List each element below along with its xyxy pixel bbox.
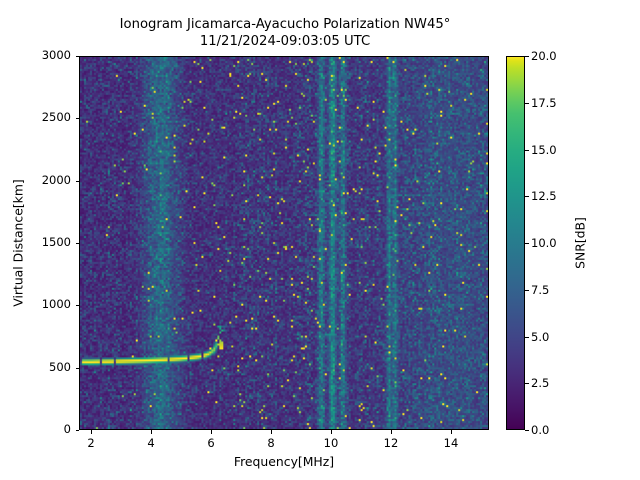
y-axis-label: Virtual Distance[km]: [11, 179, 26, 307]
xtick-mark: [271, 430, 272, 434]
ytick-mark: [76, 430, 80, 431]
ytick-label-text: 0: [64, 422, 71, 436]
colorbar-tick-label: 20.0: [531, 49, 557, 63]
colorbar-tick-mark: [525, 243, 529, 244]
xtick-mark: [331, 430, 332, 434]
ytick-mark: [76, 305, 80, 306]
xtick-label: 4: [147, 436, 154, 450]
xtick-label: 6: [207, 436, 214, 450]
colorbar-tick-mark: [525, 430, 529, 431]
ytick-mark: [76, 118, 80, 119]
page-title: Ionogram Jicamarca-Ayacucho Polarization…: [0, 17, 570, 50]
ytick-mark: [76, 181, 80, 182]
colorbar-tick-mark: [525, 383, 529, 384]
title-line-2: 11/21/2024-09:03:05 UTC: [0, 34, 570, 51]
colorbar-tick-mark: [525, 56, 529, 57]
xtick-mark: [451, 430, 452, 434]
xtick-mark: [91, 430, 92, 434]
xtick-label: 2: [87, 436, 94, 450]
colorbar-tick-mark: [525, 290, 529, 291]
colorbar-tick-label: 17.5: [531, 96, 557, 110]
colorbar-tick-label: 2.5: [531, 376, 549, 390]
colorbar-label: SNR[dB]: [573, 217, 588, 269]
colorbar-tick-mark: [525, 337, 529, 338]
ionogram-heatmap: [80, 57, 488, 429]
ytick-mark: [76, 368, 80, 369]
ytick-label-text: 2000: [42, 173, 71, 187]
ytick-label-text: 3000: [42, 48, 71, 62]
ytick-label-text: 1000: [42, 297, 71, 311]
colorbar-tick-mark: [525, 103, 529, 104]
colorbar-tick-mark: [525, 150, 529, 151]
ionogram-figure: Ionogram Jicamarca-Ayacucho Polarization…: [0, 0, 640, 480]
ytick-mark: [76, 243, 80, 244]
xtick-mark: [211, 430, 212, 434]
colorbar-gradient: [506, 56, 525, 430]
colorbar-tick-label: 5.0: [531, 330, 549, 344]
colorbar-tick-label: 15.0: [531, 143, 557, 157]
ytick-label-text: 500: [49, 360, 71, 374]
ytick-mark: [76, 56, 80, 57]
ytick-label-text: 2500: [42, 110, 71, 124]
ytick-label-text: 1500: [42, 235, 71, 249]
xtick-mark: [391, 430, 392, 434]
title-line-1: Ionogram Jicamarca-Ayacucho Polarization…: [0, 17, 570, 34]
xtick-label: 14: [444, 436, 459, 450]
colorbar-tick-label: 7.5: [531, 283, 549, 297]
xtick-mark: [151, 430, 152, 434]
xtick-label: 8: [267, 436, 274, 450]
x-axis-label: Frequency[MHz]: [79, 454, 489, 469]
colorbar-tick-label: 10.0: [531, 236, 557, 250]
xtick-label: 12: [384, 436, 399, 450]
ionogram-plot-area: [79, 56, 489, 430]
colorbar-tick-mark: [525, 196, 529, 197]
xtick-label: 10: [324, 436, 339, 450]
colorbar-tick-label: 12.5: [531, 189, 557, 203]
colorbar-tick-label: 0.0: [531, 423, 549, 437]
